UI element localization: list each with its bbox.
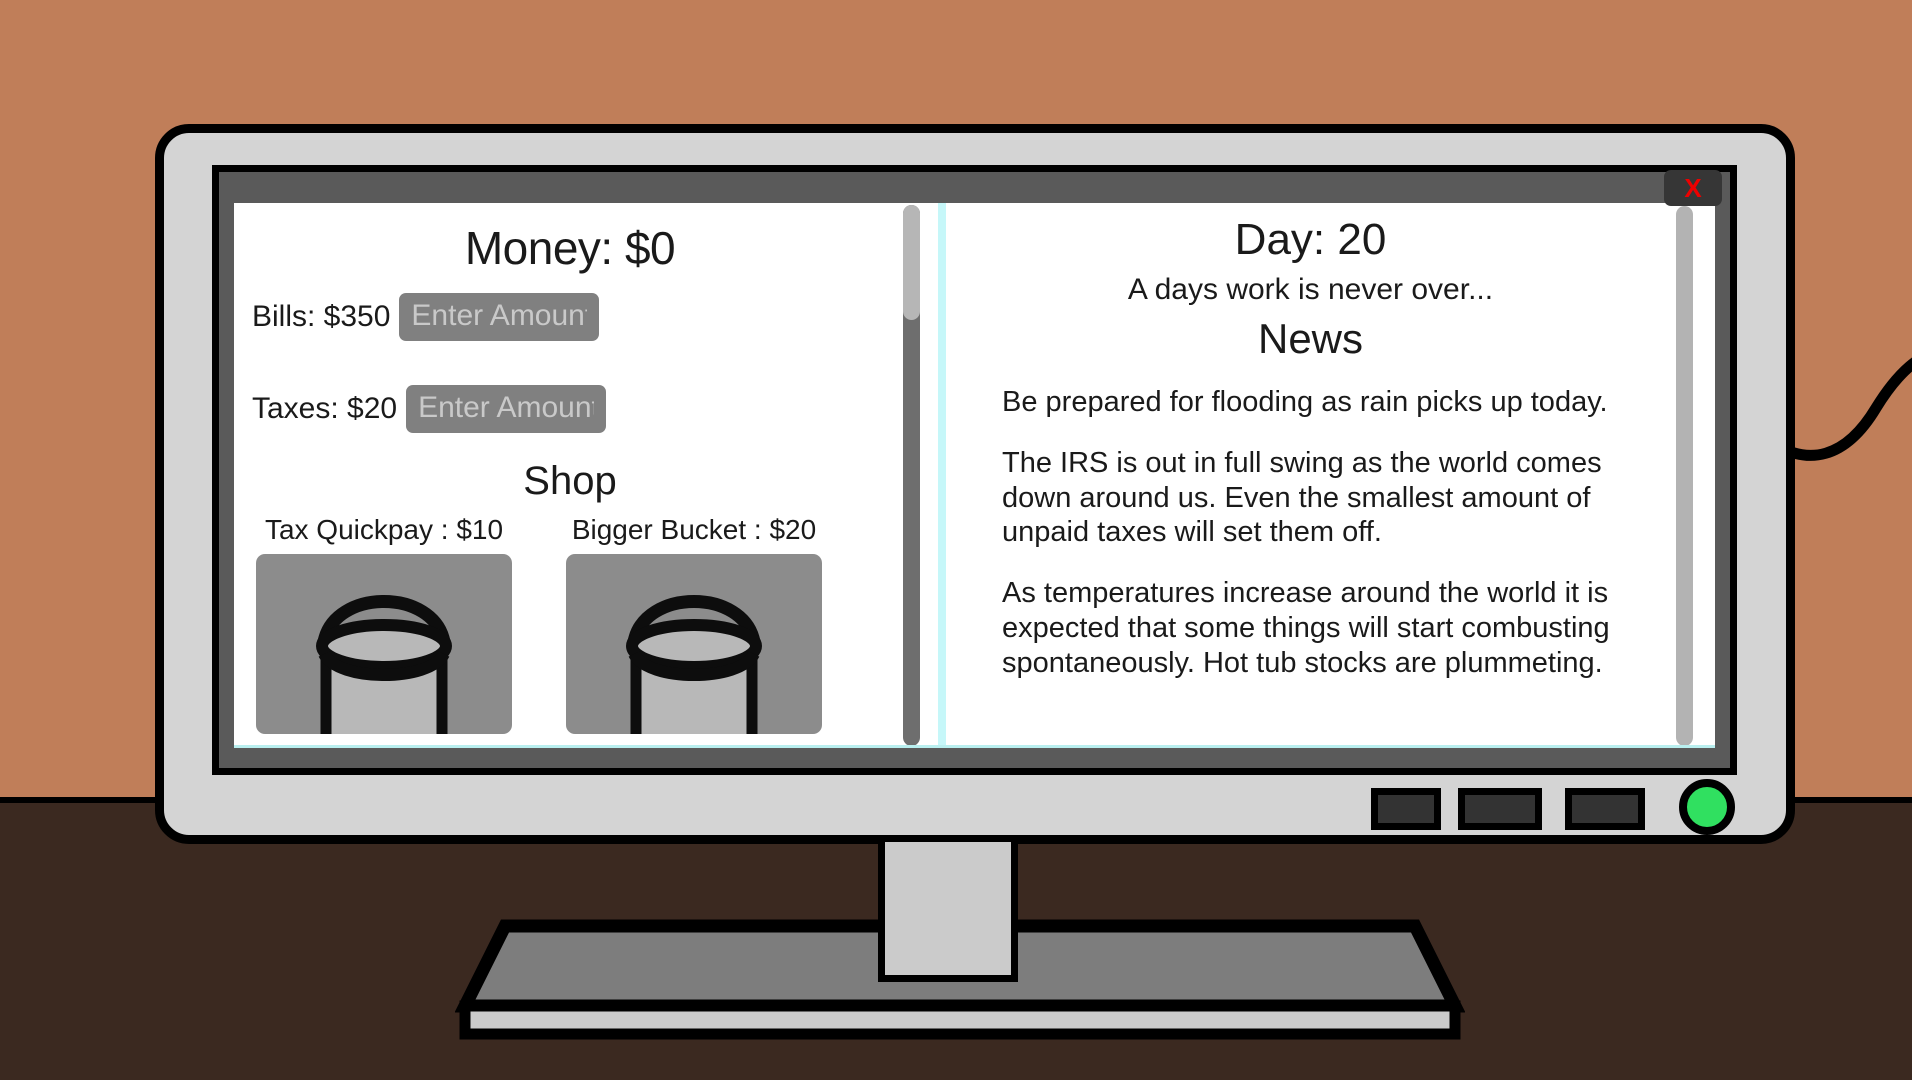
shop-item-label: Bigger Bucket : $20 — [566, 514, 822, 546]
news-item: The IRS is out in full swing as the worl… — [1002, 446, 1659, 550]
monitor-button-1[interactable] — [1371, 788, 1441, 830]
shop-buy-bigger-bucket-button[interactable] — [566, 554, 822, 734]
taxes-amount-input[interactable] — [406, 385, 606, 433]
shop-item-bigger-bucket: Bigger Bucket : $20 — [566, 514, 822, 734]
shop-item-label: Tax Quickpay : $10 — [256, 514, 512, 546]
news-body: Be prepared for flooding as rain picks u… — [946, 363, 1715, 681]
bucket-icon — [256, 554, 512, 734]
shop-buy-tax-quickpay-button[interactable] — [256, 554, 512, 734]
monitor-stand-neck — [878, 842, 1018, 982]
shop-grid: Tax Quickpay : $10 Bigger Bucket : $20 — [234, 514, 934, 734]
bills-row: Bills: $350 — [234, 293, 934, 341]
panels-wrapper: Money: $0 Bills: $350 Taxes: $20 Shop Ta… — [234, 203, 1715, 748]
news-title: News — [946, 315, 1715, 363]
news-panel-scrollbar[interactable] — [1676, 206, 1693, 746]
news-item: As temperatures increase around the worl… — [1002, 576, 1659, 680]
shop-item-tax-quickpay: Tax Quickpay : $10 — [256, 514, 512, 734]
bucket-icon — [566, 554, 822, 734]
left-panel-scrollbar[interactable] — [903, 205, 920, 746]
bills-amount-input[interactable] — [399, 293, 599, 341]
monitor-button-3[interactable] — [1565, 788, 1645, 830]
close-window-button[interactable]: X — [1664, 170, 1722, 206]
power-indicator-led[interactable] — [1679, 779, 1735, 835]
finance-panel: Money: $0 Bills: $350 Taxes: $20 Shop Ta… — [234, 203, 934, 748]
money-title: Money: $0 — [234, 221, 934, 275]
day-subtitle: A days work is never over... — [946, 273, 1715, 307]
day-title: Day: 20 — [946, 215, 1715, 265]
scene-root: Money: $0 Bills: $350 Taxes: $20 Shop Ta… — [0, 0, 1912, 1080]
monitor-button-2[interactable] — [1458, 788, 1542, 830]
left-panel-scrollbar-thumb[interactable] — [903, 205, 920, 320]
news-panel: Day: 20 A days work is never over... New… — [946, 203, 1715, 748]
screen-content: Money: $0 Bills: $350 Taxes: $20 Shop Ta… — [234, 203, 1715, 748]
news-item: Be prepared for flooding as rain picks u… — [1002, 385, 1659, 420]
bills-label: Bills: $350 — [252, 300, 390, 334]
taxes-label: Taxes: $20 — [252, 392, 397, 426]
shop-title: Shop — [234, 459, 934, 504]
panel-divider — [934, 203, 946, 748]
taxes-row: Taxes: $20 — [234, 385, 934, 433]
